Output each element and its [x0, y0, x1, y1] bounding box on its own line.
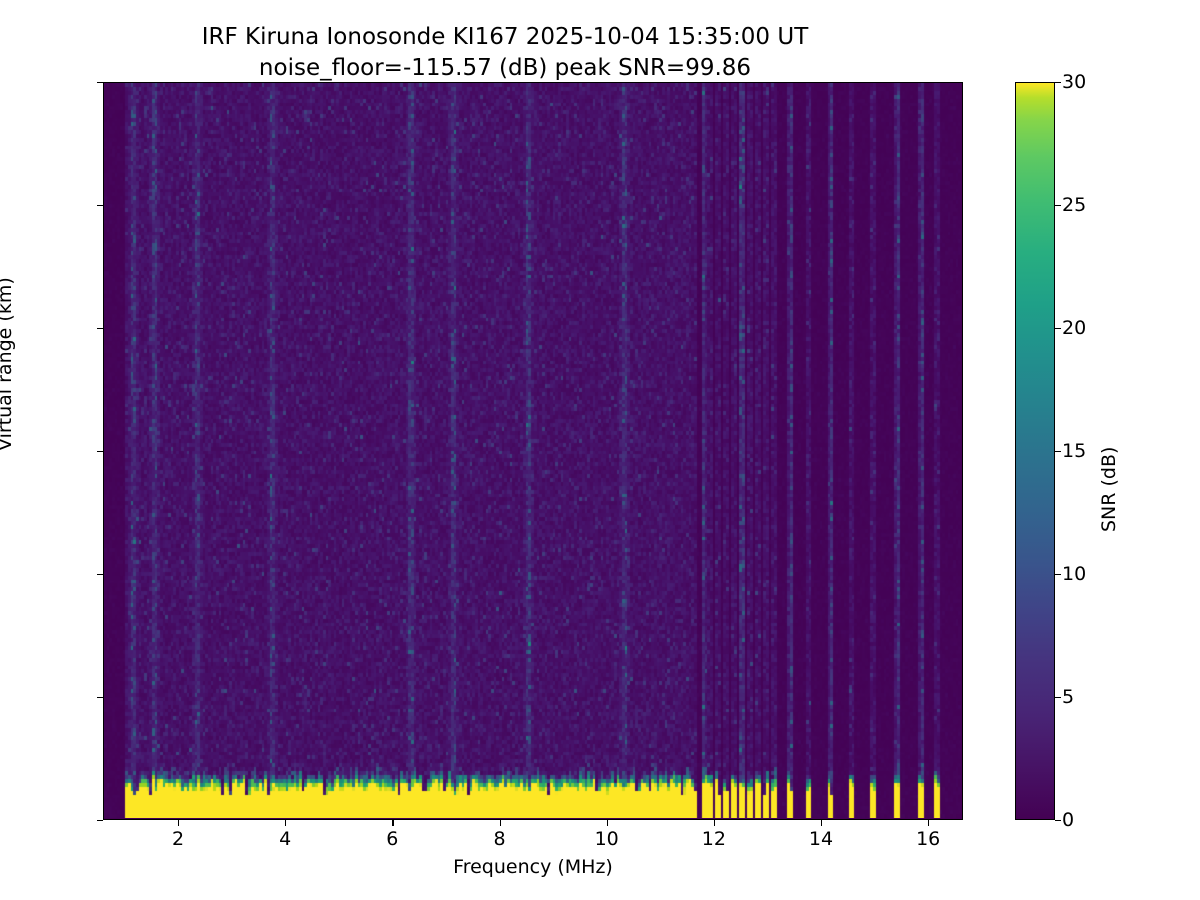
colorbar-tick-mark — [1055, 820, 1061, 821]
x-axis-tick-label: 6 — [386, 828, 398, 850]
colorbar — [1015, 82, 1055, 820]
y-axis-label: Virtual range (km) — [0, 277, 16, 451]
colorbar-tick-label: 10 — [1062, 563, 1086, 585]
y-axis-tick-mark — [97, 451, 103, 452]
x-axis-tick-label: 16 — [916, 828, 940, 850]
colorbar-tick-label: 30 — [1062, 71, 1086, 93]
ionogram-plot-area[interactable] — [103, 82, 963, 820]
colorbar-tick-mark — [1055, 574, 1061, 575]
colorbar-tick-label: 5 — [1062, 686, 1074, 708]
ionogram-figure: IRF Kiruna Ionosonde KI167 2025-10-04 15… — [0, 0, 1200, 900]
colorbar-tick-mark — [1055, 328, 1061, 329]
ionogram-heatmap-canvas — [104, 83, 961, 818]
colorbar-tick-mark — [1055, 697, 1061, 698]
y-axis-tick-mark — [97, 205, 103, 206]
x-axis-tick-mark — [392, 820, 393, 826]
y-axis-tick-mark — [97, 328, 103, 329]
x-axis-label: Frequency (MHz) — [103, 856, 963, 878]
x-axis-tick-label: 8 — [493, 828, 505, 850]
colorbar-tick-label: 15 — [1062, 440, 1086, 462]
colorbar-tick-label: 0 — [1062, 809, 1074, 831]
x-axis-tick-mark — [500, 820, 501, 826]
chart-title: IRF Kiruna Ionosonde KI167 2025-10-04 15… — [0, 22, 1010, 84]
x-axis-tick-label: 12 — [702, 828, 726, 850]
colorbar-tick-mark — [1055, 451, 1061, 452]
colorbar-tick-mark — [1055, 82, 1061, 83]
x-axis-tick-mark — [714, 820, 715, 826]
colorbar-tick-mark — [1055, 205, 1061, 206]
y-axis-tick-mark — [97, 697, 103, 698]
x-axis-tick-mark — [178, 820, 179, 826]
x-axis-tick-label: 4 — [279, 828, 291, 850]
x-axis-tick-mark — [821, 820, 822, 826]
y-axis-tick-mark — [97, 574, 103, 575]
x-axis-tick-label: 10 — [595, 828, 619, 850]
y-axis-tick-mark — [97, 820, 103, 821]
x-axis-tick-label: 2 — [172, 828, 184, 850]
x-axis-tick-label: 14 — [809, 828, 833, 850]
x-axis-tick-mark — [607, 820, 608, 826]
y-axis-tick-mark — [97, 82, 103, 83]
colorbar-label: SNR (dB) — [1098, 447, 1120, 532]
x-axis-tick-mark — [285, 820, 286, 826]
colorbar-tick-label: 25 — [1062, 194, 1086, 216]
x-axis-tick-mark — [928, 820, 929, 826]
colorbar-tick-label: 20 — [1062, 317, 1086, 339]
